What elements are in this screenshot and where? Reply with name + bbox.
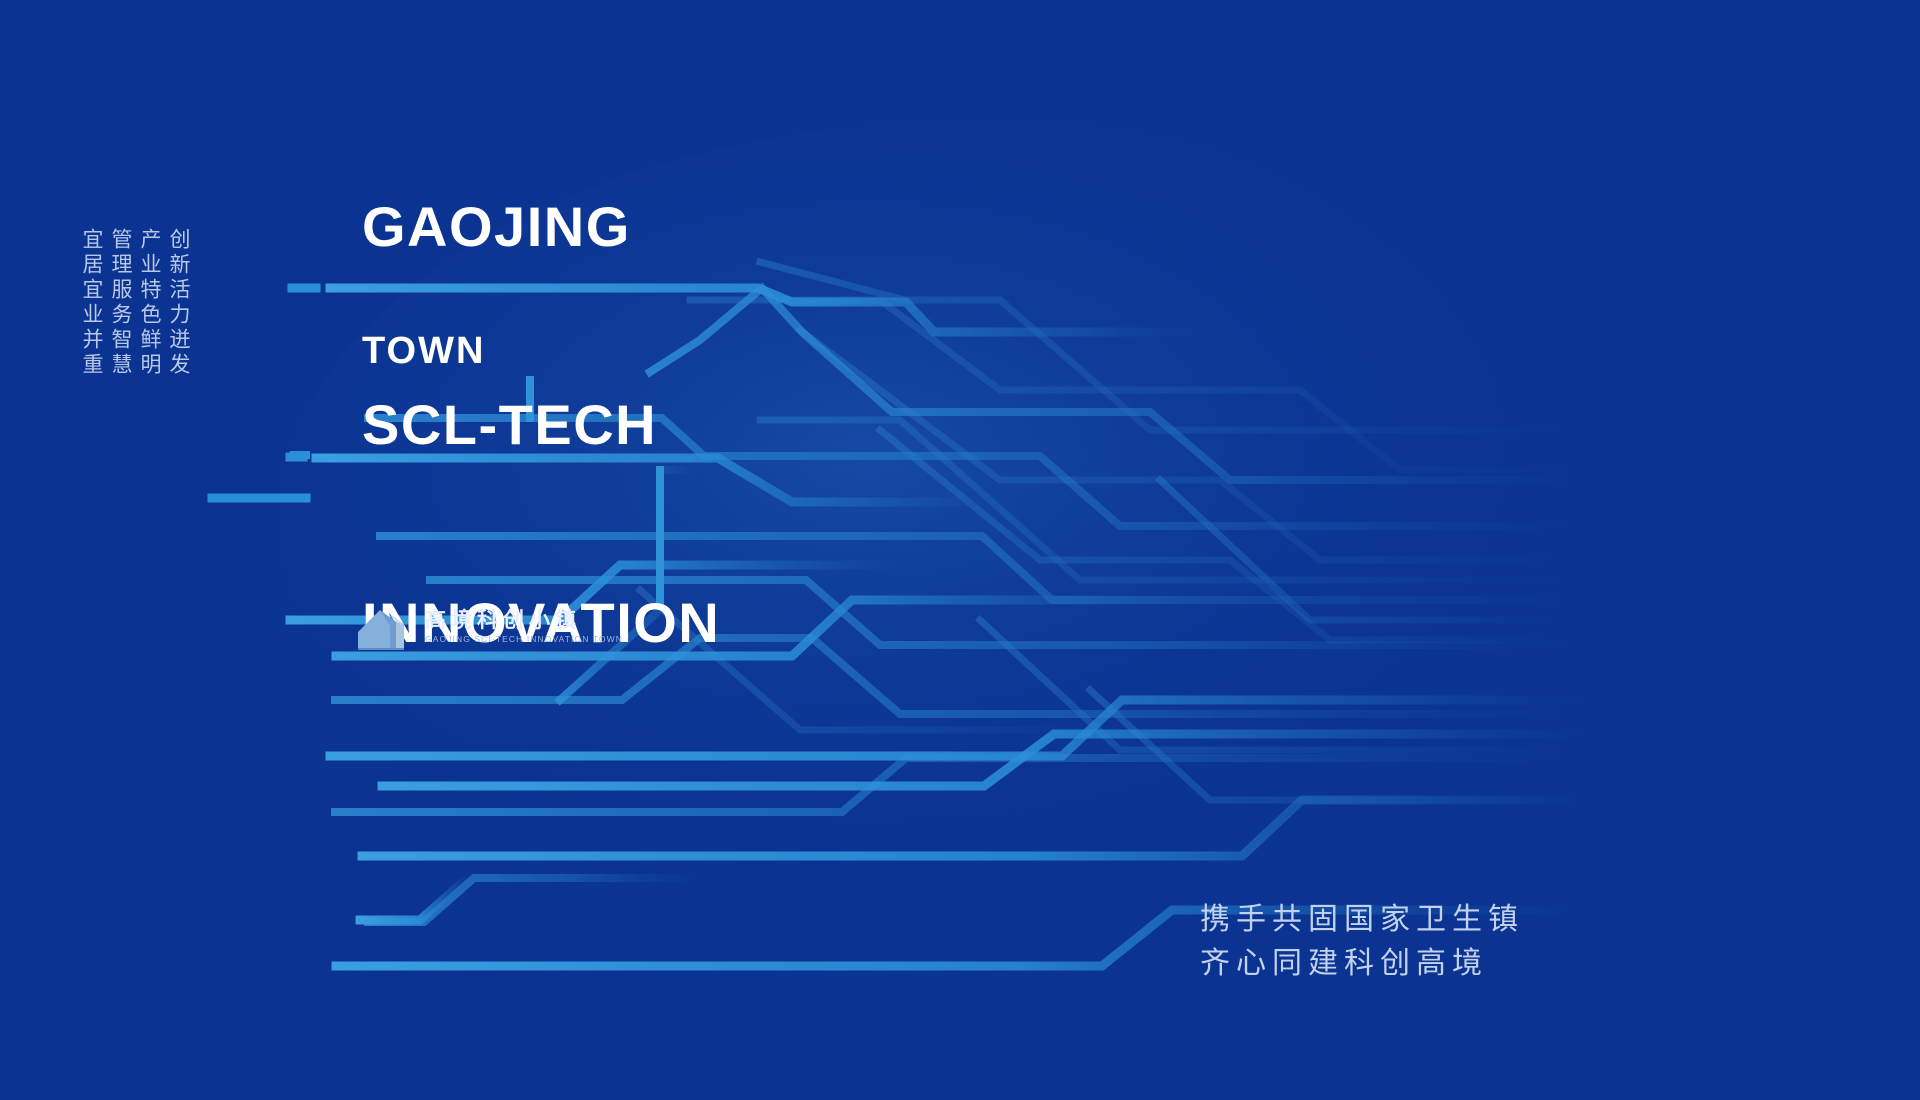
logo-lockup: 高境科创小镇 GAOJING SCI-TECH INNOVATION TOWN [356,602,623,650]
poster-canvas: GAOJING SCL-TECH INNOVATION TOWN 创新活力迸发 … [0,0,1920,1100]
vertical-slogan-column-4: 宜居宜业并重 [80,228,103,378]
vertical-slogan-column-1: 创新活力迸发 [167,228,190,378]
bottom-slogan-line-1: 携手共固国家卫生镇 [1200,898,1524,942]
headline-line-4: TOWN [362,330,485,373]
house-building-icon [356,602,414,650]
logo-name-cn: 高境科创小镇 [425,609,623,631]
vertical-slogan-column-3: 管理服务智慧 [109,228,132,378]
headline-line-2: SCL-TECH [362,392,720,458]
circuit-trace-background [0,0,1920,1100]
vertical-slogan: 创新活力迸发 产业特色鲜明 管理服务智慧 宜居宜业并重 [80,228,190,378]
vertical-slogan-column-2: 产业特色鲜明 [138,228,161,378]
bottom-slogan: 携手共固国家卫生镇 齐心同建科创高境 [1200,898,1524,986]
logo-name-en: GAOJING SCI-TECH INNOVATION TOWN [425,634,623,644]
bottom-slogan-line-2: 齐心同建科创高境 [1200,942,1524,986]
headline-line-1: GAOJING [362,194,720,260]
page-title: GAOJING SCL-TECH INNOVATION [362,62,720,788]
logo-text-block: 高境科创小镇 GAOJING SCI-TECH INNOVATION TOWN [425,609,623,644]
